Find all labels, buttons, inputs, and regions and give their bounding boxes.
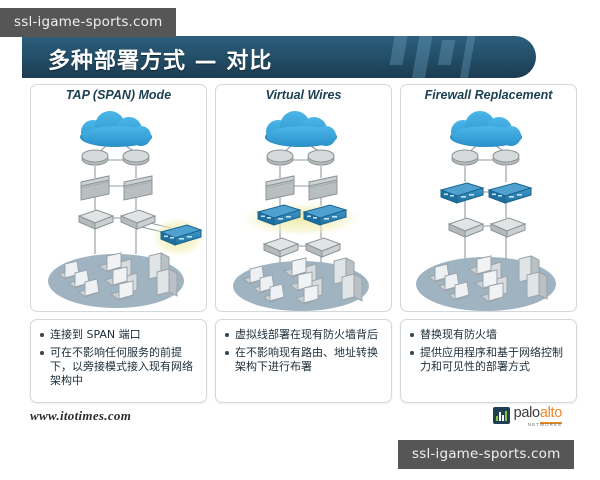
internet-cloud-icon: [265, 111, 337, 147]
list-item: 可在不影响任何服务的前提下，以旁接模式接入现有网络架构中: [38, 346, 199, 388]
column-header-firewall-replacement: Firewall Replacement: [400, 84, 577, 106]
list-item: 在不影响现有路由、地址转换架构下进行布署: [223, 346, 384, 374]
pa-device-icon: [441, 183, 483, 203]
paloalto-logo: paloalto NETWORKS: [493, 406, 562, 427]
bullets-card-virtual-wires: 虚拟线部署在现有防火墙背后 在不影响现有路由、地址转换架构下进行布署: [215, 319, 392, 403]
internet-cloud-icon: [450, 111, 522, 147]
diagram-firewall-replacement: [400, 106, 577, 312]
pa-device-icon: [489, 183, 531, 203]
logo-subtitle: NETWORKS: [514, 423, 562, 427]
column-header-virtual-wires: Virtual Wires: [215, 84, 392, 106]
network-diagram-svg-1: [31, 106, 206, 311]
endpoint-zone: [48, 253, 184, 308]
network-diagram-svg-2: [216, 106, 391, 311]
watermark-bottom: ssl-igame-sports.com: [398, 440, 574, 469]
firewall-icons: [266, 176, 337, 200]
switch-icons: [449, 218, 525, 237]
list-item: 虚拟线部署在现有防火墙背后: [223, 328, 384, 342]
page-title: 多种部署方式 — 对比: [48, 43, 272, 75]
bullets-card-tap-span-mode: 连接到 SPAN 端口 可在不影响任何服务的前提下，以旁接模式接入现有网络架构中: [30, 319, 207, 403]
router-icons: [452, 150, 519, 165]
firewall-icons: [81, 176, 152, 200]
title-stripe-decoration: [386, 36, 506, 78]
column-firewall-replacement: Firewall Replacement: [400, 84, 577, 403]
slide-title-bar: 多种部署方式 — 对比: [22, 36, 536, 78]
column-tap-span-mode: TAP (SPAN) Mode: [30, 84, 207, 403]
logo-word-palo: palo: [514, 405, 540, 421]
paloalto-logo-mark-icon: [493, 407, 510, 424]
comparison-columns: TAP (SPAN) Mode: [30, 84, 578, 403]
column-virtual-wires: Virtual Wires: [215, 84, 392, 403]
watermark-top: ssl-igame-sports.com: [0, 8, 176, 37]
endpoint-zone: [416, 256, 556, 311]
switch-icons: [264, 238, 340, 257]
column-header-tap-span-mode: TAP (SPAN) Mode: [30, 84, 207, 106]
bullets-card-firewall-replacement: 替换现有防火墙 提供应用程序和基于网络控制力和可见性的部署方式: [400, 319, 577, 403]
router-icons: [267, 150, 334, 165]
list-item: 提供应用程序和基于网络控制力和可见性的部署方式: [408, 346, 569, 374]
internet-cloud-icon: [80, 111, 152, 147]
diagram-tap-span-mode: [30, 106, 207, 312]
list-item: 替换现有防火墙: [408, 328, 569, 342]
paloalto-logo-text: paloalto NETWORKS: [514, 406, 562, 427]
router-icons: [82, 150, 149, 165]
diagram-virtual-wires: [215, 106, 392, 312]
slide-canvas: 多种部署方式 — 对比 TAP (SPAN) Mode: [22, 36, 578, 436]
bullet-list-3: 替换现有防火墙 提供应用程序和基于网络控制力和可见性的部署方式: [408, 328, 569, 374]
bullet-list-1: 连接到 SPAN 端口 可在不影响任何服务的前提下，以旁接模式接入现有网络架构中: [38, 328, 199, 388]
list-item: 连接到 SPAN 端口: [38, 328, 199, 342]
bullet-list-2: 虚拟线部署在现有防火墙背后 在不影响现有路由、地址转换架构下进行布署: [223, 328, 384, 374]
footer-source-url: www.itotimes.com: [30, 408, 131, 424]
network-diagram-svg-3: [401, 106, 576, 311]
switch-icons: [79, 210, 155, 229]
endpoint-zone: [233, 258, 369, 311]
